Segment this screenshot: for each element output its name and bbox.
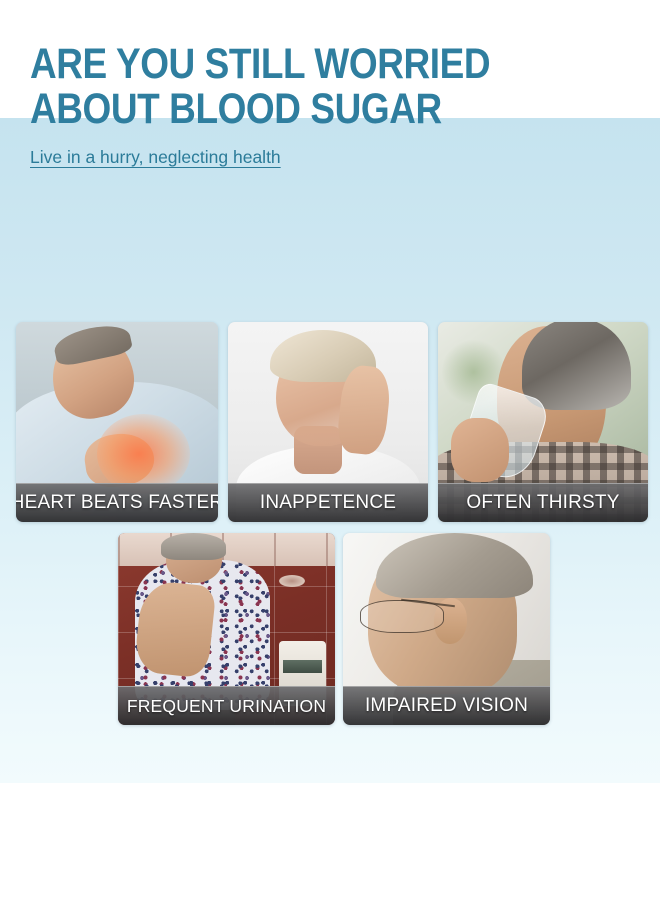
- symptom-card-often-thirsty[interactable]: OFTEN THIRSTY: [438, 322, 648, 522]
- symptom-card-inappetence[interactable]: INAPPETENCE: [228, 322, 428, 522]
- symptom-card-heart-beats-faster[interactable]: HEART BEATS FASTER: [16, 322, 218, 522]
- symptom-card-label: INAPPETENCE: [228, 483, 428, 522]
- symptom-card-label: FREQUENT URINATION: [118, 686, 335, 725]
- headline-line-2: ABOUT BLOOD SUGAR: [30, 87, 546, 132]
- headline-line-1: ARE YOU STILL WORRIED: [30, 42, 546, 87]
- symptom-card-label: HEART BEATS FASTER: [16, 483, 218, 522]
- symptom-card-frequent-urination[interactable]: FREQUENT URINATION: [118, 533, 335, 725]
- page-title: ARE YOU STILL WORRIED ABOUT BLOOD SUGAR: [30, 42, 546, 132]
- symptom-card-label: IMPAIRED VISION: [343, 686, 550, 725]
- subtitle: Live in a hurry, neglecting health: [30, 146, 281, 168]
- headline-block: ARE YOU STILL WORRIED ABOUT BLOOD SUGAR …: [30, 42, 630, 168]
- symptom-card-impaired-vision[interactable]: IMPAIRED VISION: [343, 533, 550, 725]
- symptom-card-label: OFTEN THIRSTY: [438, 483, 648, 522]
- symptom-row-two: FREQUENT URINATION IMPAIRED VISION: [118, 533, 550, 725]
- blood-sugar-symptom-poster: ARE YOU STILL WORRIED ABOUT BLOOD SUGAR …: [0, 0, 660, 900]
- symptom-row-one: HEART BEATS FASTER INAPPETENCE: [16, 322, 648, 522]
